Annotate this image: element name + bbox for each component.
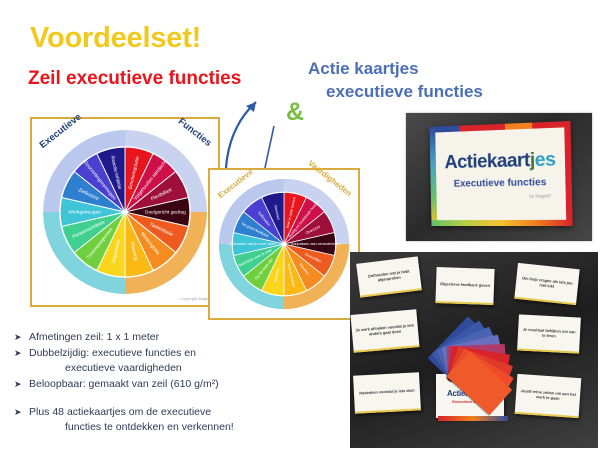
box-color-rim-bottom [431, 220, 572, 226]
wheel-frame-executieve-vaardigheden: Snel in actie komenRustig en hoofdzaak h… [208, 168, 360, 320]
slide-canvas: Voordeelset! Zeil executieve functies Ac… [0, 0, 600, 450]
scattered-cards-photo: Onthouden wat je hebt afgesprokenObjecti… [350, 252, 598, 448]
box-subtitle: Executieve functies [454, 177, 547, 190]
action-card: Objectieve feedback geven [435, 267, 494, 305]
bullet-text: Beloopbaar: gemaakt van zeil (610 g/m²) [29, 377, 344, 392]
bullet-arrow-icon: ➤ [14, 405, 29, 419]
right-title: Actie kaartjes executieve functies [308, 58, 483, 104]
box-title-seg-1: Actiekaart [444, 150, 530, 173]
feature-bullet-list: ➤Afmetingen zeil: 1 x 1 meter➤Dubbelzijd… [14, 330, 344, 435]
wheel-two-graphic: Snel in actie komenRustig en hoofdzaak h… [210, 170, 358, 318]
action-card: Om hulp vragen als iets jou niet lukt [514, 263, 579, 305]
bullet-text-continuation: executieve vaardigheden [29, 361, 344, 376]
action-card: Je werk afmaken voordat je iets anders g… [350, 309, 419, 353]
wheel-one-svg: EmotieregulatieVolgehouden aandachtFlexi… [32, 119, 218, 305]
bullet-item: ➤Plus 48 actiekaartjes om de executievef… [14, 405, 344, 435]
wheel-two-svg: Snel in actie komenRustig en hoofdzaak h… [210, 170, 358, 318]
wheel-segment-label: Werkgeheugen [68, 209, 101, 215]
bullet-arrow-icon: ➤ [14, 330, 29, 344]
product-box: Actiekaartjes Executieve functies by Mag… [430, 121, 573, 226]
action-card: Nadenken voordat je iets doet [353, 372, 421, 413]
wheel-segment-label: Doelgericht gedrag [145, 209, 186, 215]
left-subtitle: Zeil executieve functies [28, 68, 241, 90]
wheel-one-graphic: EmotieregulatieVolgehouden aandachtFlexi… [32, 119, 218, 305]
wheel-segment-label: Onthouden wat je moet doen [228, 242, 275, 246]
wheel-frame-executieve-functies: EmotieregulatieVolgehouden aandachtFlexi… [30, 117, 220, 307]
product-box-photo: Actiekaartjes Executieve functies by Mag… [406, 113, 592, 241]
bullet-arrow-icon: ➤ [14, 377, 29, 391]
bullet-item: ➤Beloopbaar: gemaakt van zeil (610 g/m²) [14, 377, 344, 392]
box-title: Actiekaartjes [444, 150, 555, 172]
fan-card-edge [438, 416, 508, 421]
page-title: Voordeelset! [30, 22, 201, 55]
bullet-text-continuation: functies te ontdekken en verkennen! [29, 420, 344, 435]
action-card: Je resultaat bekijken om van te leren [517, 314, 581, 353]
bullet-item: ➤Dubbelzijdig: executieve functies enexe… [14, 346, 344, 376]
right-title-line2: executieve functies [308, 81, 483, 104]
bullet-text: Dubbelzijdig: executieve functies enexec… [29, 346, 344, 376]
ampersand-symbol: & [286, 98, 304, 127]
wheel-segment-label: Aanpassen aan veranderingen [291, 242, 341, 246]
right-title-line1: Actie kaartjes [308, 59, 419, 78]
card-fan: Actiekaartjes Executieve functies [432, 330, 510, 420]
bullet-item: ➤Afmetingen zeil: 1 x 1 meter [14, 330, 344, 345]
action-card: Jezelf ertoe zetten om aan het werk te g… [515, 374, 582, 418]
box-face: Actiekaartjes Executieve functies by Mag… [435, 127, 566, 220]
bullet-text: Afmetingen zeil: 1 x 1 meter [29, 330, 344, 345]
box-brand: by Magis® [529, 193, 551, 198]
bullet-text: Plus 48 actiekaartjes om de executievefu… [29, 405, 344, 435]
bullet-arrow-icon: ➤ [14, 346, 29, 360]
action-card: Onthouden wat je hebt afgesproken [356, 256, 422, 297]
box-title-seg-3: es [534, 149, 555, 171]
